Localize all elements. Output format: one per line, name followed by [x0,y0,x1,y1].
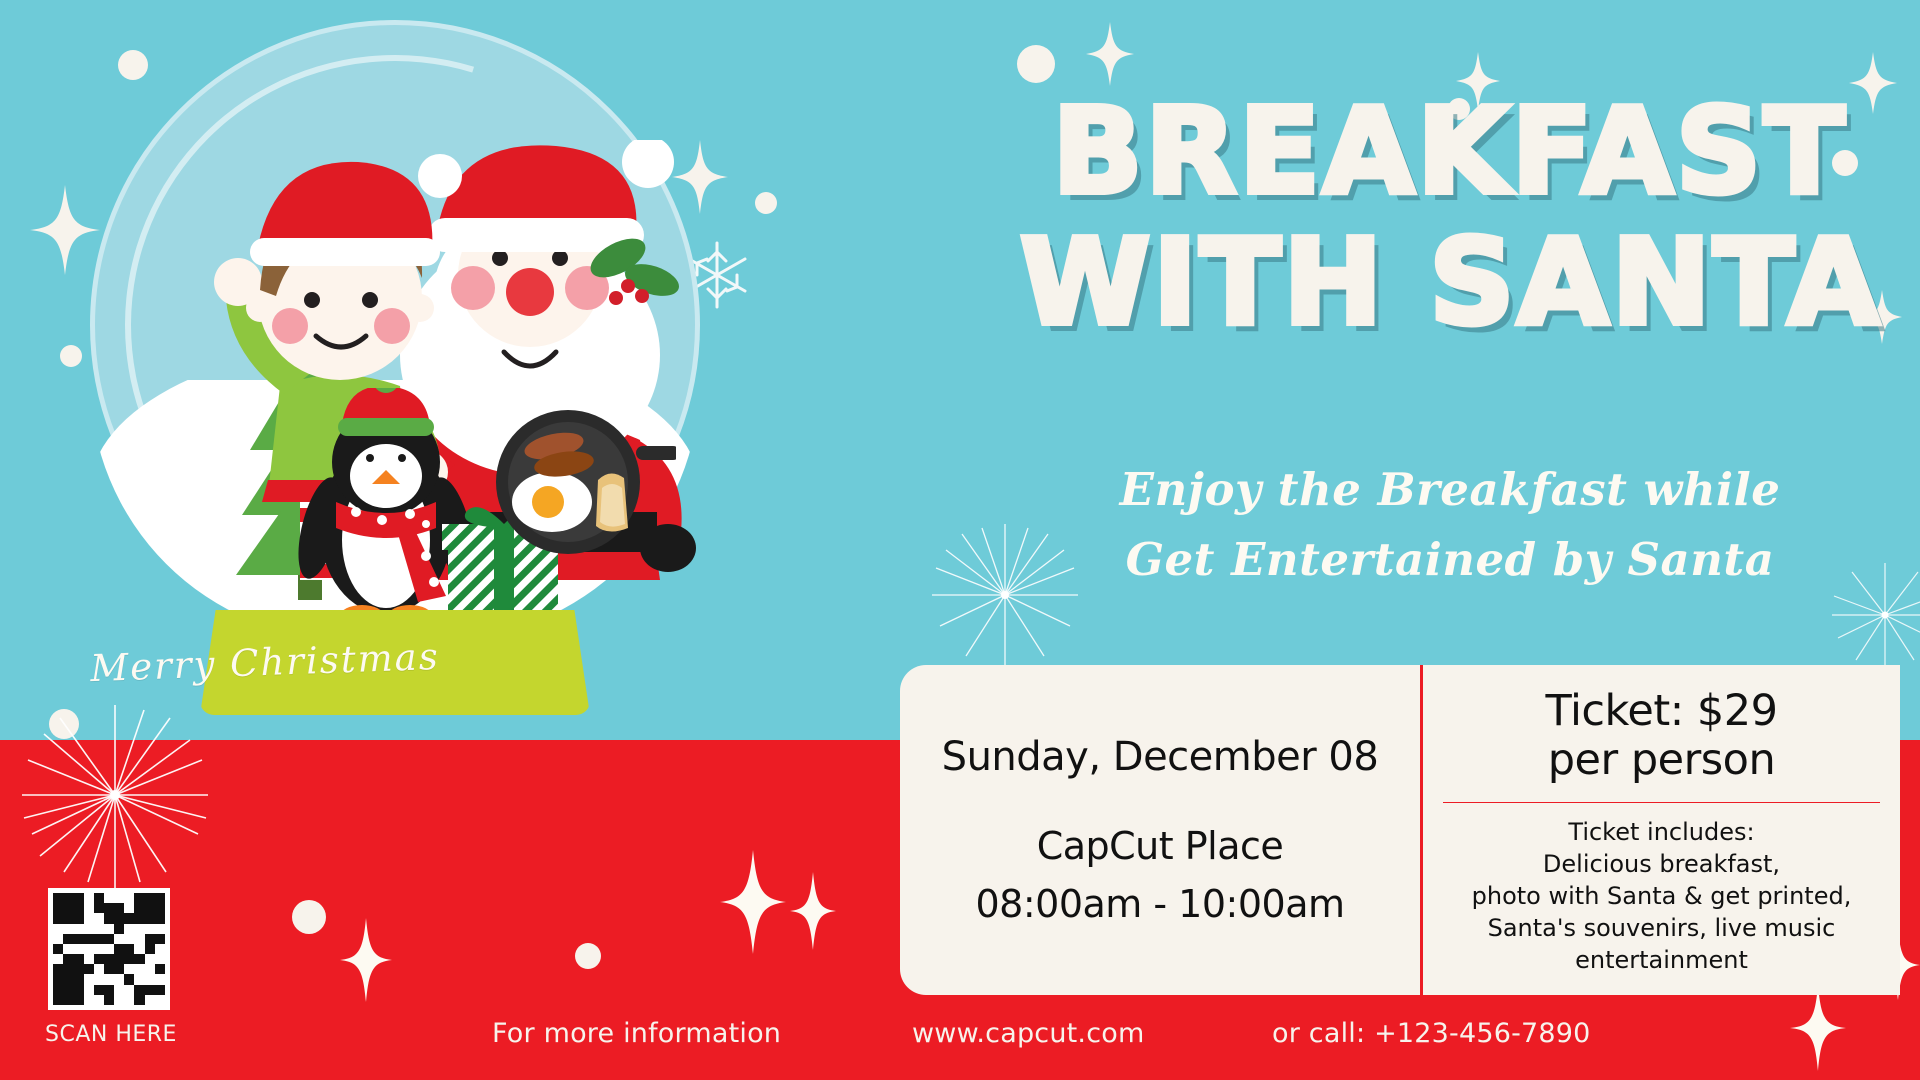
ticket-includes: Ticket includes: Delicious breakfast, ph… [1472,817,1852,977]
decor-dot [292,900,326,934]
ticket-price-line-1: Ticket: $29 [1546,687,1778,736]
sparkle-icon [720,850,786,954]
decor-dot [1017,45,1055,83]
scan-here-label: SCAN HERE [45,1022,177,1047]
flyer-canvas: Merry Christmas BREAKFAST WITH SANTA Enj… [0,0,1920,1080]
includes-line: Santa's souvenirs, live music [1472,913,1852,945]
includes-heading: Ticket includes: [1472,817,1852,849]
breakfast-pan-icon [486,410,676,560]
merry-christmas-text: Merry Christmas [68,603,461,722]
includes-line: Delicious breakfast, [1472,849,1852,881]
page-title: BREAKFAST WITH SANTA [1020,95,1880,340]
event-venue: CapCut Place [1037,824,1284,868]
ticket-price: Ticket: $29 per person [1546,687,1778,786]
event-details-panel: Sunday, December 08 CapCut Place 08:00am… [900,665,1420,995]
qr-code-icon[interactable] [48,888,170,1010]
includes-line: entertainment [1472,945,1852,977]
includes-line: photo with Santa & get printed, [1472,881,1852,913]
subtitle: Enjoy the Breakfast while Get Entertaine… [1010,455,1890,595]
decor-dot [755,192,777,214]
ticket-price-line-2: per person [1546,736,1778,785]
ticket-rule [1443,802,1880,804]
sparkle-icon [340,918,392,1002]
event-info-card: Sunday, December 08 CapCut Place 08:00am… [900,665,1900,995]
subtitle-line-2: Get Entertained by Santa [1010,525,1890,595]
phone-number[interactable]: or call: +123-456-7890 [1272,1018,1591,1049]
event-date: Sunday, December 08 [942,734,1379,780]
website-link[interactable]: www.capcut.com [912,1018,1144,1049]
subtitle-line-1: Enjoy the Breakfast while [1010,455,1890,525]
title-line-1: BREAKFAST [1020,95,1880,208]
sparkle-icon [1790,985,1846,1071]
decor-dot [575,943,601,969]
sparkle-icon [790,872,836,950]
event-time: 08:00am - 10:00am [976,882,1345,926]
snow-globe-illustration: Merry Christmas [70,10,720,870]
sparkle-icon [1086,22,1134,86]
title-line-2: WITH SANTA [1020,226,1880,339]
more-information-label: For more information [492,1018,781,1049]
ticket-panel: Ticket: $29 per person Ticket includes: … [1423,665,1900,995]
